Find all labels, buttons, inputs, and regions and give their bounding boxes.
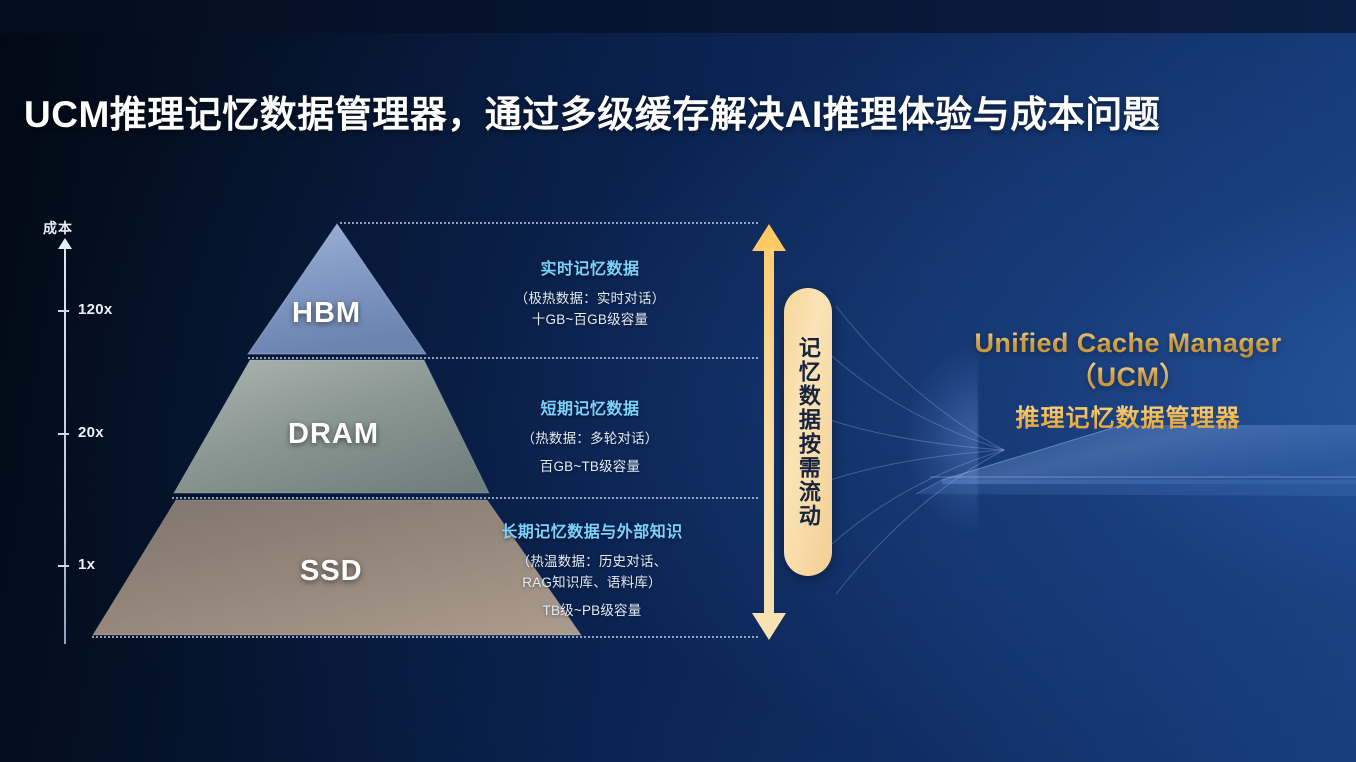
axis-tick-20x (58, 433, 69, 435)
caption-ssd-line-1: （热温数据：历史对话、 (442, 551, 742, 572)
pyramid-layer-hbm (248, 224, 426, 354)
ucm-pedestal (880, 420, 1356, 540)
axis-tick-label-1x: 1x (78, 556, 95, 573)
flow-badge: 记忆数据按需流动 (784, 288, 832, 576)
flow-badge-label: 记忆数据按需流动 (796, 336, 820, 528)
caption-dram-line-1: （热数据：多轮对话） (450, 428, 730, 449)
slide-canvas: UCM推理记忆数据管理器，通过多级缓存解决AI推理体验与成本问题 成本 120x… (0, 0, 1356, 762)
caption-hbm: 实时记忆数据 （极热数据：实时对话） 十GB~百GB级容量 (450, 255, 730, 330)
ucm-line-en-1: Unified Cache Manager (902, 326, 1354, 360)
pyramid-label-hbm: HBM (292, 297, 361, 330)
guide-dash-apex (340, 222, 758, 224)
axis-tick-label-120x: 120x (78, 301, 113, 318)
guide-dash-dram-ssd (172, 497, 758, 499)
arrow-shaft (764, 248, 774, 616)
caption-dram: 短期记忆数据 （热数据：多轮对话） 百GB~TB级容量 (450, 395, 730, 477)
caption-ssd-line-2: RAG知识库、语料库） (442, 572, 742, 593)
axis-tick-120x (58, 310, 69, 312)
guide-dash-hbm-dram (248, 357, 758, 359)
axis-label-cost: 成本 (43, 218, 73, 238)
caption-ssd: 长期记忆数据与外部知识 （热温数据：历史对话、 RAG知识库、语料库） TB级~… (442, 518, 742, 621)
axis-tick-1x (58, 565, 69, 567)
ucm-title-block: Unified Cache Manager （UCM） 推理记忆数据管理器 (902, 326, 1354, 433)
axis-line (64, 246, 66, 644)
ucm-line-cn: 推理记忆数据管理器 (902, 398, 1354, 433)
caption-ssd-line-3: TB级~PB级容量 (442, 600, 742, 621)
caption-dram-line-2: 百GB~TB级容量 (450, 456, 730, 477)
caption-hbm-line-1: （极热数据：实时对话） (450, 288, 730, 309)
caption-dram-heading: 短期记忆数据 (450, 395, 730, 419)
caption-ssd-heading: 长期记忆数据与外部知识 (442, 518, 742, 542)
axis-tick-label-20x: 20x (78, 424, 104, 441)
arrow-down-icon (752, 613, 786, 640)
page-title: UCM推理记忆数据管理器，通过多级缓存解决AI推理体验与成本问题 (24, 84, 1324, 138)
arrow-up-icon (752, 224, 786, 251)
guide-dash-base (92, 636, 758, 638)
caption-hbm-line-2: 十GB~百GB级容量 (450, 309, 730, 330)
pyramid-label-dram: DRAM (288, 418, 379, 451)
pyramid-label-ssd: SSD (300, 555, 363, 588)
top-band (0, 0, 1356, 33)
caption-hbm-heading: 实时记忆数据 (450, 255, 730, 279)
ucm-line-en-2: （UCM） (902, 360, 1354, 394)
